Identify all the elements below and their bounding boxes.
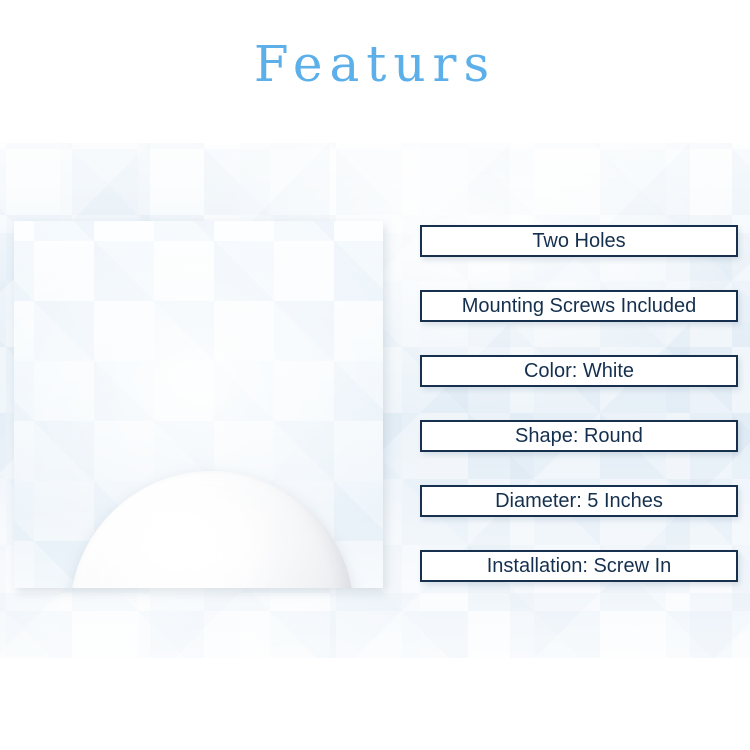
feature-label: Mounting Screws Included [462,296,697,316]
feature-label: Installation: Screw In [487,556,672,576]
feature-label: Two Holes [532,231,625,251]
feature-label: Diameter: 5 Inches [495,491,663,511]
feature-box-color: Color: White [420,355,738,387]
feature-box-diameter: Diameter: 5 Inches [420,485,738,517]
feature-label: Color: White [524,361,634,381]
page-title: Featurs [0,36,750,92]
feature-list: Two Holes Mounting Screws Included Color… [420,225,738,582]
feature-box-installation: Installation: Screw In [420,550,738,582]
page-root: Featurs Two Holes Mounting Screws Includ… [0,0,750,750]
feature-box-shape: Shape: Round [420,420,738,452]
feature-box-mounting-screws-included: Mounting Screws Included [420,290,738,322]
product-image-card [14,221,383,588]
feature-label: Shape: Round [515,426,643,446]
feature-box-two-holes: Two Holes [420,225,738,257]
